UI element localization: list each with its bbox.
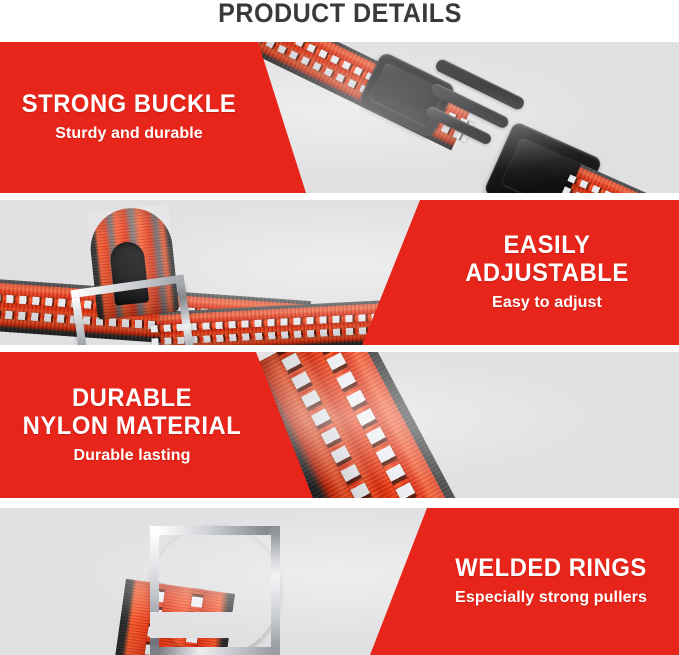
- page-header: PRODUCT DETAILS: [0, 0, 679, 42]
- caption-subline: Durable lasting: [0, 445, 264, 467]
- caption-copy: DURABLE NYLON MATERIAL Durable lasting: [0, 384, 316, 467]
- page-title: PRODUCT DETAILS: [218, 0, 462, 28]
- caption-headline: DURABLE NYLON MATERIAL: [7, 384, 258, 440]
- d-ring-base-shadow: [150, 612, 262, 638]
- strap-segment-lower: [563, 164, 679, 193]
- feature-panel-easily-adjustable: EASILY ADJUSTABLE Easy to adjust: [0, 200, 679, 345]
- feature-panel-strong-buckle: STRONG BUCKLE Sturdy and durable: [0, 42, 679, 193]
- caption-headline: STRONG BUCKLE: [6, 90, 251, 118]
- caption-copy: EASILY ADJUSTABLE Easy to adjust: [359, 231, 679, 314]
- feature-panel-durable-nylon-material: DURABLE NYLON MATERIAL Durable lasting: [0, 352, 679, 498]
- caption-headline: WELDED RINGS: [429, 554, 672, 582]
- caption-subline: Especially strong pullers: [423, 587, 679, 609]
- feature-panel-welded-rings: WELDED RINGS Especially strong pullers: [0, 508, 679, 655]
- caption-copy: STRONG BUCKLE Sturdy and durable: [0, 90, 310, 145]
- reflective-stitch-row: [562, 186, 679, 193]
- caption-subline: Sturdy and durable: [0, 123, 258, 145]
- caption-copy: WELDED RINGS Especially strong pullers: [367, 554, 679, 609]
- reflective-stitch-row: [567, 174, 679, 193]
- caption-subline: Easy to adjust: [415, 292, 679, 314]
- caption-headline: EASILY ADJUSTABLE: [422, 231, 673, 287]
- caption-block-strong-buckle: STRONG BUCKLE Sturdy and durable: [0, 42, 310, 193]
